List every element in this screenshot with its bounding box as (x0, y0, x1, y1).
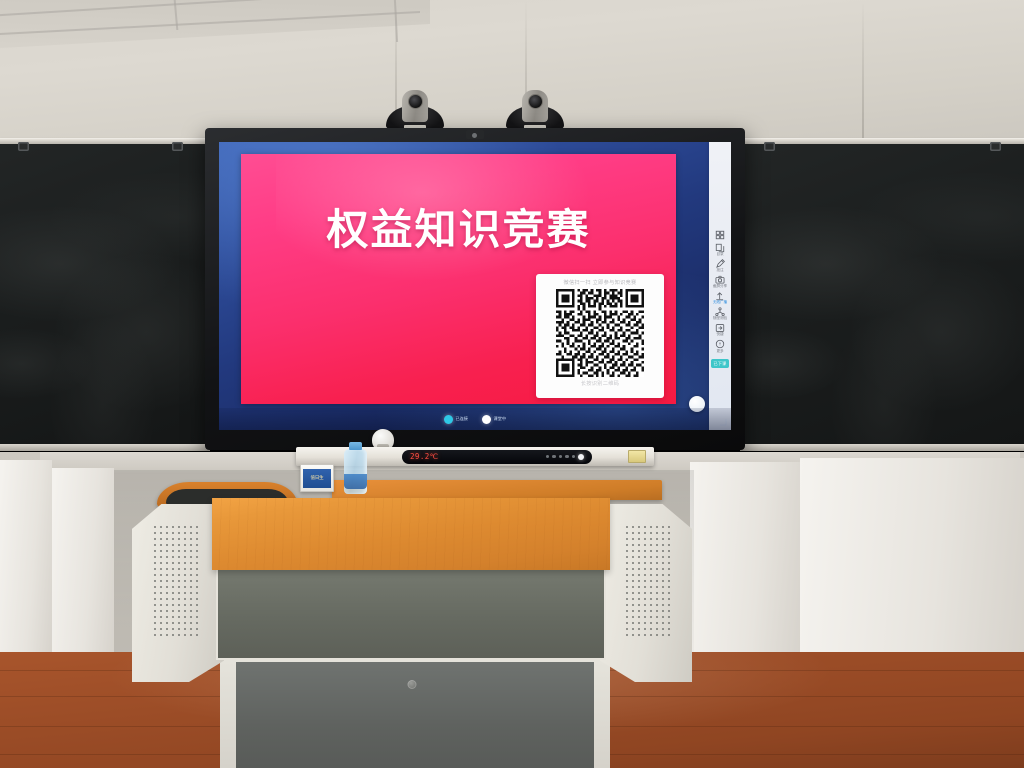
taskbar-label: 已连接 (455, 416, 468, 422)
podium-back-rail (332, 480, 662, 500)
toolbar-status-badge[interactable]: 已下课 (711, 359, 729, 368)
blackboard-frame-top (740, 139, 1024, 144)
ceiling-tiles (0, 0, 430, 48)
toolbar-item-apps[interactable] (709, 230, 731, 241)
taskbar-indicator-class[interactable]: 课堂中 (482, 415, 506, 424)
camera-lens-icon (408, 94, 423, 109)
blackboard-left (0, 139, 210, 451)
toolbar-item-shortcut[interactable]: 快捷 (709, 323, 731, 337)
placard-inner: 值日生 (303, 469, 331, 488)
toolbar-label: 随堂测验 (713, 317, 727, 321)
led-button[interactable] (559, 455, 562, 458)
taskbar-label: 课堂中 (494, 416, 507, 422)
wall-pillar-left-inner (52, 468, 114, 664)
water-bottle (344, 442, 367, 494)
led-display-panel[interactable]: 29.2℃ (402, 450, 592, 464)
toolbar-label: 更多 (717, 350, 724, 354)
presentation-slide[interactable]: 权益知识竞赛 微信扫一扫 立即参与知识竞赛 (241, 154, 676, 404)
podium-base-panel (236, 662, 594, 768)
temperature-readout: 29.2℃ (410, 452, 438, 461)
toolbar-item-quiz[interactable]: 随堂测验 (709, 307, 731, 321)
blackboard-clip (764, 142, 775, 151)
smartboard-camera-icon (466, 130, 484, 139)
podium-front-panel (216, 568, 606, 660)
bottle-label (344, 474, 367, 489)
desk-placard: 值日生 (300, 464, 334, 492)
led-button[interactable] (565, 455, 568, 458)
lightbar-label-tag (628, 450, 646, 463)
blackboard-surface (0, 139, 210, 451)
taskbar-indicator-connected[interactable]: 已连接 (444, 415, 468, 424)
blackboard-surface (740, 139, 1024, 451)
wall-seam (862, 0, 864, 150)
blackboard-clip (990, 142, 1001, 151)
podium-lock-icon[interactable] (408, 680, 417, 689)
help-circle-icon (715, 339, 725, 349)
teaching-podium[interactable]: 值日生 (132, 480, 692, 768)
desktop-taskbar[interactable]: 已连接 课堂中 (219, 408, 731, 430)
slide-title: 权益知识竞赛 (241, 208, 676, 252)
led-button[interactable] (572, 455, 575, 458)
blackboard-clip (172, 142, 183, 151)
toolbar-label: 批注 (717, 269, 724, 273)
smartboard-screen[interactable]: 权益知识竞赛 微信扫一扫 立即参与知识竞赛 (219, 142, 731, 430)
toolbar-item-annotate[interactable]: 批注 (709, 259, 731, 273)
blackboard-right (740, 139, 1024, 451)
toolbar-label: 无线广播 (713, 301, 727, 305)
toolbar-item-broadcast[interactable]: 无线广播 (709, 291, 731, 305)
toolbar-label: 目录 (717, 253, 724, 257)
led-button[interactable] (552, 455, 555, 458)
wall-pillar-right (800, 458, 1024, 678)
toolbar-item-screenshot[interactable]: 截屏分享 (709, 275, 731, 289)
status-dot-icon (444, 415, 453, 424)
placard-text: 值日生 (311, 475, 324, 481)
toolbar-item-catalog[interactable]: 目录 (709, 243, 731, 257)
wall-pillar-right-inner (690, 462, 800, 674)
camera-lens-icon (528, 94, 543, 109)
blackboard-clip (18, 142, 29, 151)
toolbar-label: 截屏分享 (713, 285, 727, 289)
wood-grain-texture (212, 498, 610, 570)
blackboard-frame-bottom (0, 444, 210, 451)
apps-grid-icon (715, 230, 725, 240)
status-dot-icon (482, 415, 491, 424)
toolbar-item-more[interactable]: 更多 (709, 339, 731, 353)
toolbar-label: 快捷 (717, 333, 724, 337)
led-button-active[interactable] (578, 454, 584, 460)
copy-icon (715, 243, 725, 253)
qr-code-card[interactable]: 微信扫一扫 立即参与知识竞赛 (536, 274, 664, 398)
bottle-cap (349, 442, 362, 450)
speaker-grille-right (624, 524, 672, 636)
qr-caption-top: 微信扫一扫 立即参与知识竞赛 (563, 279, 636, 286)
podium-wood-top[interactable] (212, 498, 610, 570)
speaker-grille-left (152, 524, 200, 636)
blackboard-frame-bottom (740, 444, 1024, 451)
qr-code-icon (556, 289, 644, 377)
smartboard-side-toolbar[interactable]: 目录 批注 截屏分享 (709, 142, 731, 430)
led-button[interactable] (546, 455, 549, 458)
wall-pillar-left (0, 460, 52, 668)
qr-caption-bottom: 长按识别二维码 (581, 380, 619, 387)
interactive-smartboard[interactable]: 权益知识竞赛 微信扫一扫 立即参与知识竞赛 (205, 128, 745, 450)
led-button-row[interactable] (546, 454, 584, 460)
classroom-scene: 权益知识竞赛 微信扫一扫 立即参与知识竞赛 (0, 0, 1024, 768)
